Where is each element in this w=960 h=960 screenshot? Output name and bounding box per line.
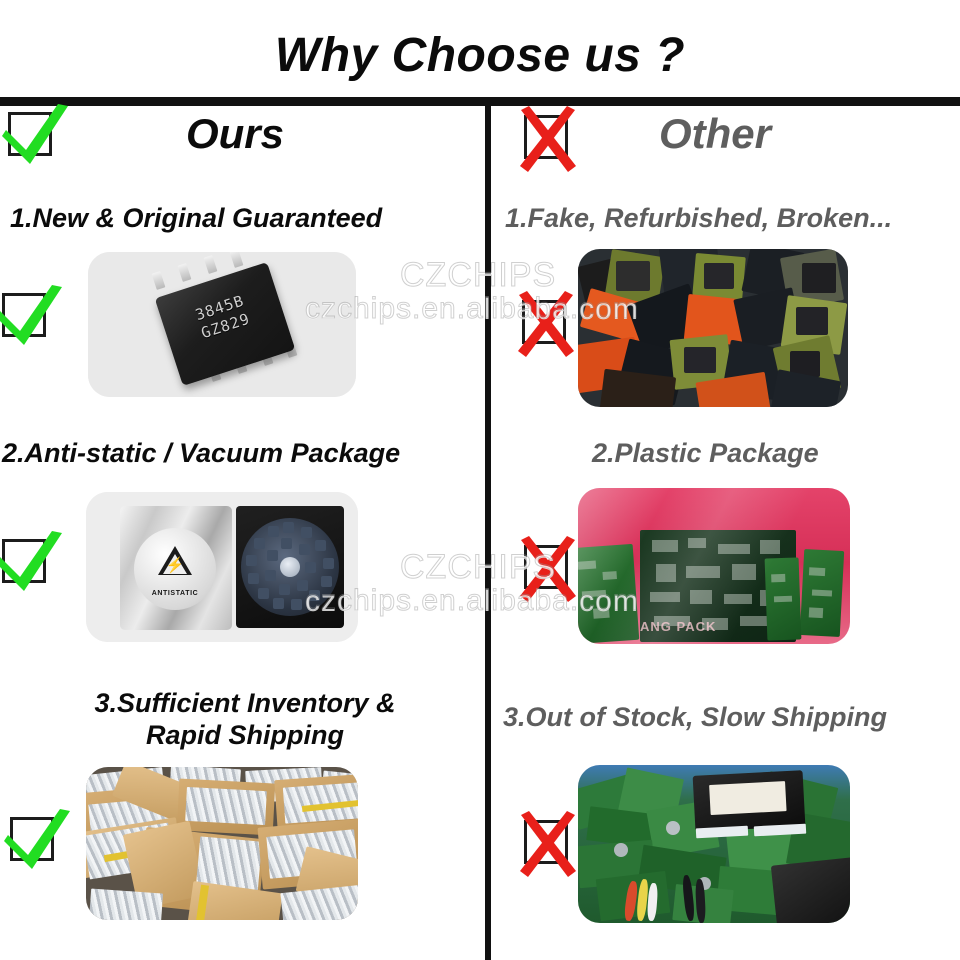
component-reel xyxy=(241,518,339,616)
bag-reel-bulge: ⚡ ANTISTATIC xyxy=(134,528,216,610)
watermark-brand-1: CZCHIPS xyxy=(400,256,556,295)
feature-label-other-1: 1.Fake, Refurbished, Broken... xyxy=(505,203,892,235)
checkbox-outline-ours-1 xyxy=(2,293,46,337)
checkbox-outline-ours-3 xyxy=(10,817,54,861)
lightning-bolt-icon: ⚡ xyxy=(166,558,185,573)
checkbox-outline-header-other xyxy=(524,115,568,159)
image-card-ours-2: ⚡ ANTISTATIC xyxy=(86,492,358,642)
chip-photo-scene: 3845B GZ829 xyxy=(88,252,356,397)
black-case xyxy=(771,857,850,923)
checkbox-outline-ours-2 xyxy=(2,539,46,583)
scrap-chip-pile-scene xyxy=(578,249,848,407)
column-divider-vertical xyxy=(485,106,491,960)
checkbox-outline-other-2 xyxy=(524,545,568,589)
column-header-ours: Ours xyxy=(120,110,350,158)
pcb-scrap-scene xyxy=(578,765,850,923)
feature-label-ours-1: 1.New & Original Guaranteed xyxy=(10,203,382,235)
header-divider-horizontal xyxy=(0,97,960,106)
page-title: Why Choose us ? xyxy=(0,28,960,83)
image-card-other-2: ANG PACK xyxy=(578,488,850,644)
bag-print-text: ANG PACK xyxy=(640,619,716,634)
image-card-other-3 xyxy=(578,765,850,923)
column-header-other: Other xyxy=(580,110,850,158)
plastic-package-scene: ANG PACK xyxy=(578,488,850,644)
feature-label-ours-3: 3.Sufficient Inventory & Rapid Shipping xyxy=(55,688,435,752)
reel-tray xyxy=(236,506,344,628)
why-choose-us-comparison-graphic: Why Choose us ? Ours Other 1.New & Origi… xyxy=(0,0,960,960)
black-module xyxy=(693,770,806,832)
antistatic-package-scene: ⚡ ANTISTATIC xyxy=(86,492,358,642)
soic-chip-body: 3845B GZ829 xyxy=(155,262,296,386)
chip-marking: 3845B GZ829 xyxy=(161,281,285,353)
checkbox-outline-other-1 xyxy=(522,300,566,344)
antistatic-bag-label: ANTISTATIC xyxy=(134,590,216,597)
warehouse-boxes-scene xyxy=(86,767,358,920)
checkbox-outline-other-3 xyxy=(524,820,568,864)
checkbox-outline-header xyxy=(8,112,52,156)
feature-label-other-3: 3.Out of Stock, Slow Shipping xyxy=(503,702,887,734)
image-card-ours-1: 3845B GZ829 xyxy=(88,252,356,397)
antistatic-bag: ⚡ ANTISTATIC xyxy=(120,506,232,630)
feature-label-ours-2: 2.Anti-static / Vacuum Package xyxy=(2,438,400,470)
module-label xyxy=(709,781,786,815)
reel-hub xyxy=(280,557,300,577)
image-card-ours-3 xyxy=(86,767,358,920)
feature-label-other-2: 2.Plastic Package xyxy=(592,438,819,470)
image-card-other-1 xyxy=(578,249,848,407)
